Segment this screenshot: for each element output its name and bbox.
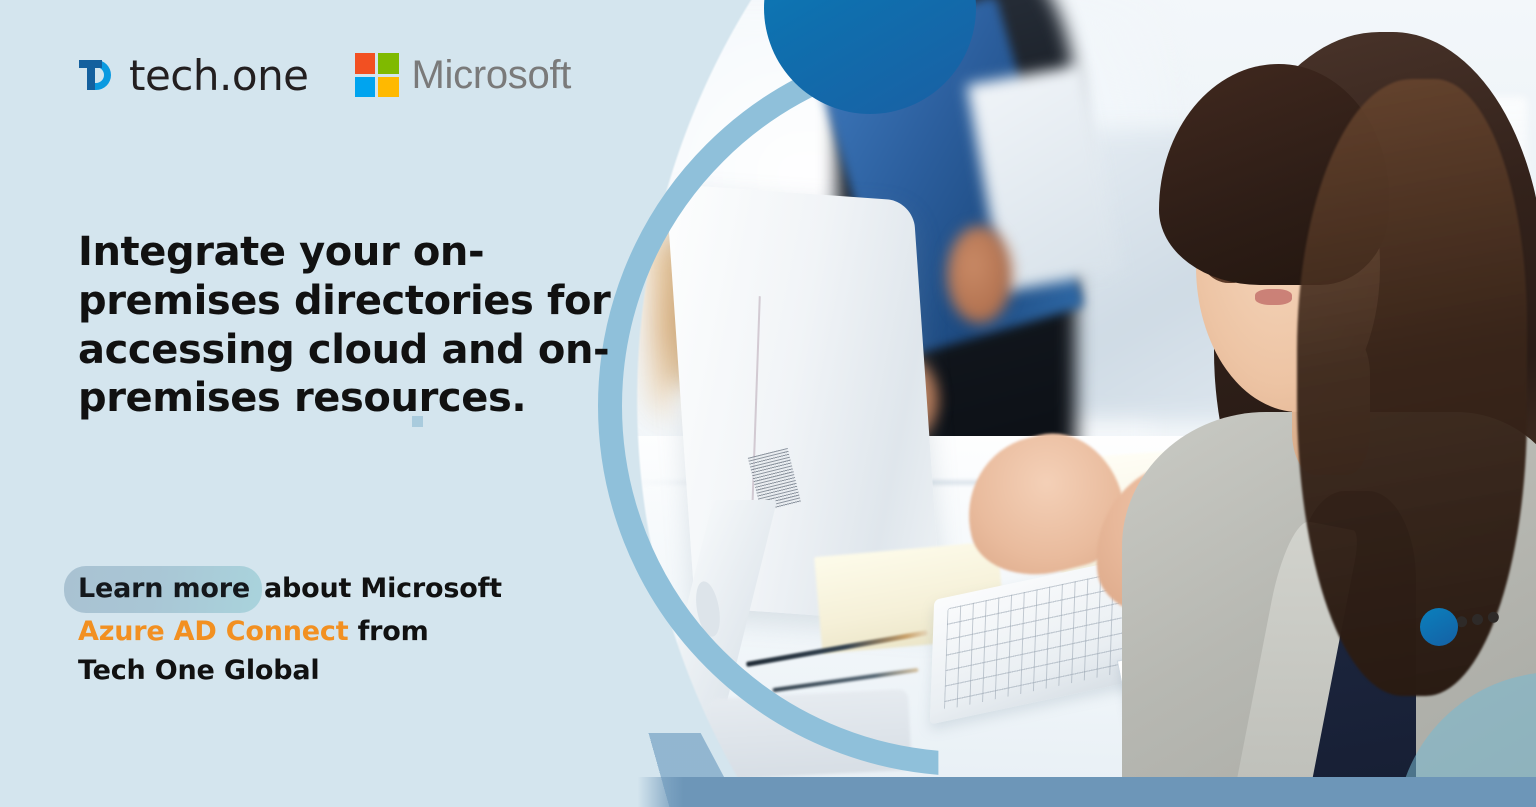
cta-line2-rest: from: [358, 616, 429, 647]
hair-strand: [1297, 79, 1527, 696]
learn-more-highlight[interactable]: Learn more: [64, 566, 262, 613]
cta-line-3: Tech One Global: [78, 652, 598, 690]
techone-wordmark: tech.one: [129, 55, 309, 97]
ms-square-bottom-left: [355, 77, 376, 98]
ms-square-bottom-right: [378, 77, 399, 98]
cta-text-block: Learn moreabout Microsoft Azure AD Conne…: [78, 566, 598, 690]
page-headline: Integrate your on-premises directories f…: [78, 228, 638, 423]
microsoft-logo[interactable]: Microsoft: [355, 53, 572, 97]
cta-line-2: Azure AD Connect from: [78, 613, 598, 651]
cta-line1-rest: about Microsoft: [264, 573, 502, 604]
man-hand-upper: [947, 226, 1011, 323]
businesswoman: [1094, 16, 1536, 807]
ms-square-top-right: [378, 53, 399, 74]
microsoft-four-squares-icon: [355, 53, 399, 97]
marketing-banner: tech.one Microsoft Integrate your on-pre…: [0, 0, 1536, 807]
decorative-square: [412, 416, 423, 427]
azure-ad-connect-link[interactable]: Azure AD Connect: [78, 616, 348, 647]
decorative-circle-dot: [1420, 608, 1458, 646]
ms-square-top-left: [355, 53, 376, 74]
microsoft-wordmark: Microsoft: [412, 55, 572, 95]
techone-td-monogram-icon: [74, 52, 120, 98]
logo-row: tech.one Microsoft: [74, 52, 571, 98]
cta-line-1: Learn moreabout Microsoft: [78, 566, 598, 613]
lips: [1255, 289, 1292, 305]
content-pane: tech.one Microsoft Integrate your on-pre…: [0, 0, 780, 807]
techone-logo[interactable]: tech.one: [74, 52, 309, 98]
